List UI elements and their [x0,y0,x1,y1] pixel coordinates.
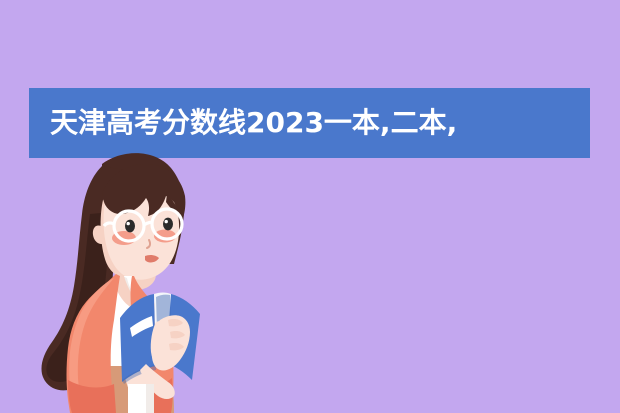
title-banner: 天津高考分数线2023一本,二本, [29,88,590,158]
page-title: 天津高考分数线2023一本,二本, [50,109,457,137]
shirt-bottom-shade [146,384,154,413]
girl-reading-book-illustration [28,152,228,413]
poster-canvas: 天津高考分数线2023一本,二本, [0,0,620,413]
